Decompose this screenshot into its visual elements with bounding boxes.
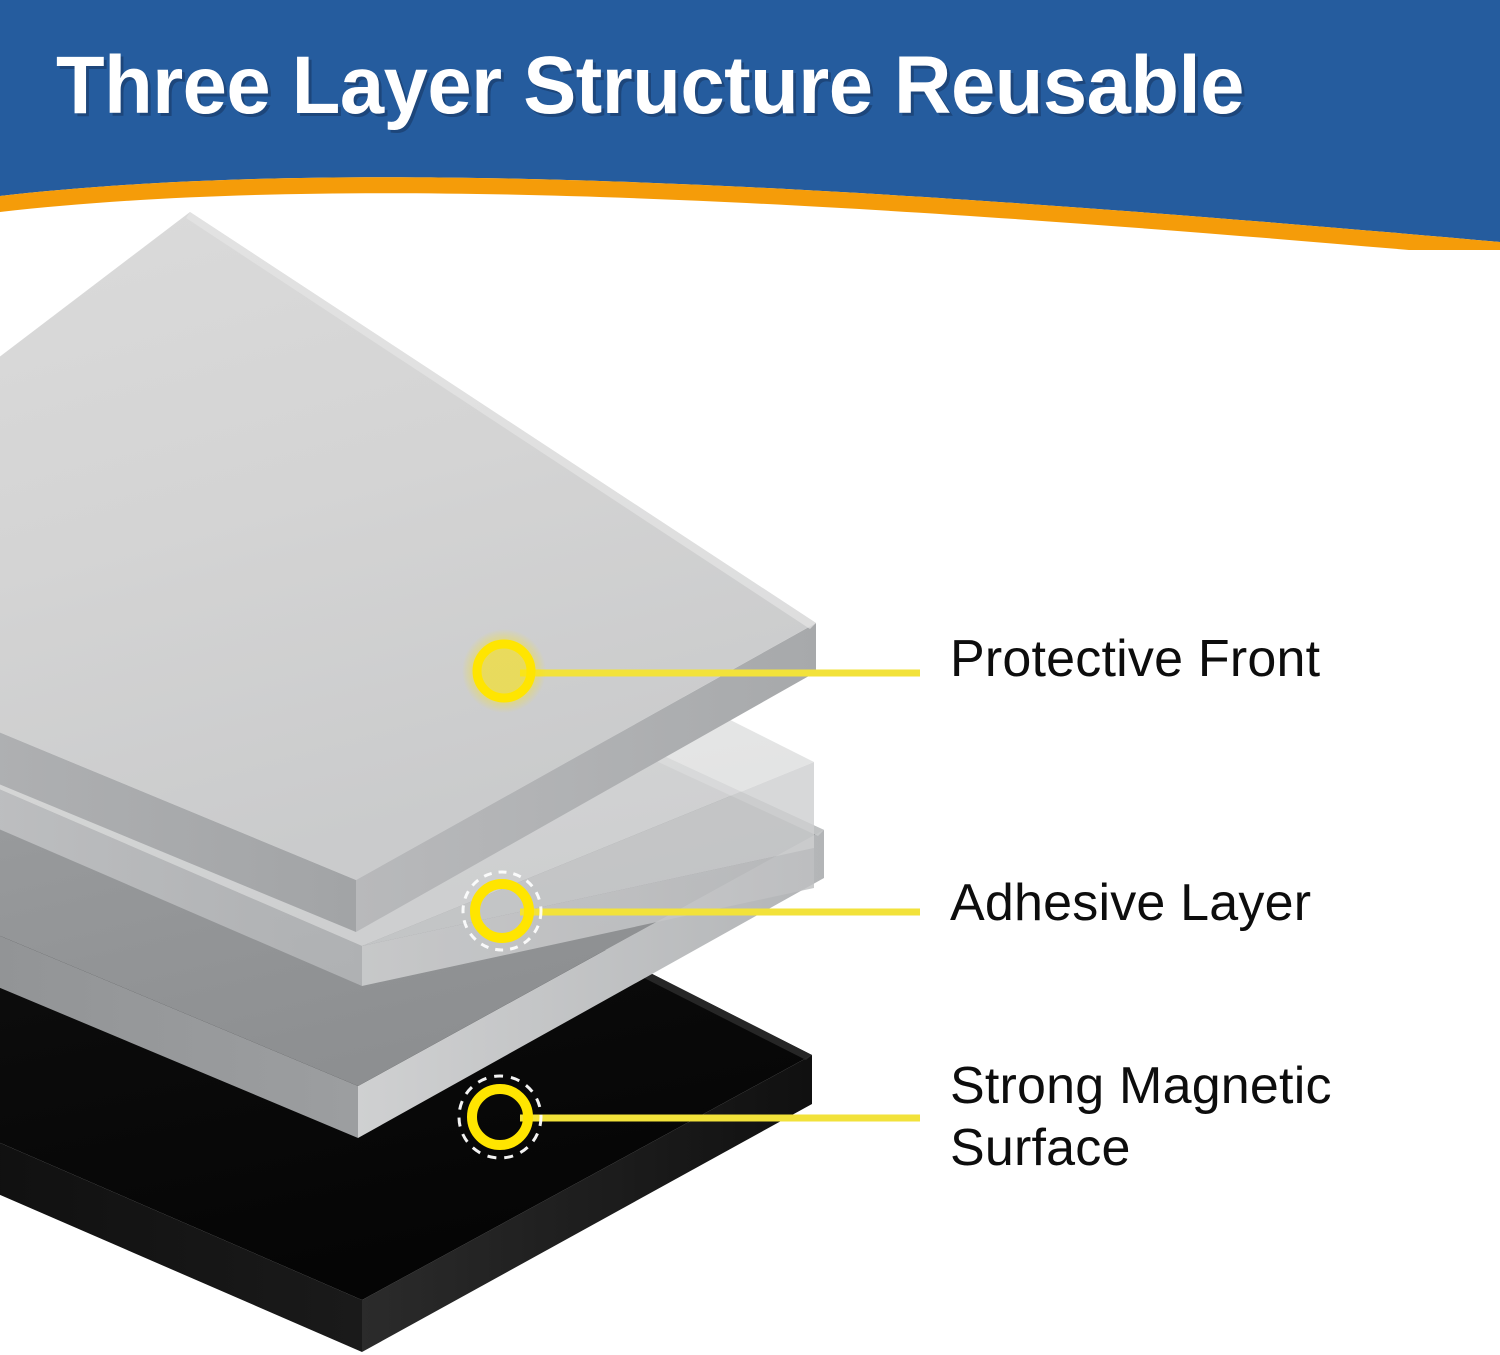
page-title: Three Layer Structure Reusable: [56, 38, 1433, 134]
callout-label-magnetic-surface: Strong Magnetic Surface: [950, 1055, 1420, 1179]
infographic-page: Three Layer Structure Reusable: [0, 0, 1500, 1355]
callout-label-adhesive-layer: Adhesive Layer: [950, 872, 1311, 934]
callout-label-protective-front: Protective Front: [950, 628, 1320, 690]
